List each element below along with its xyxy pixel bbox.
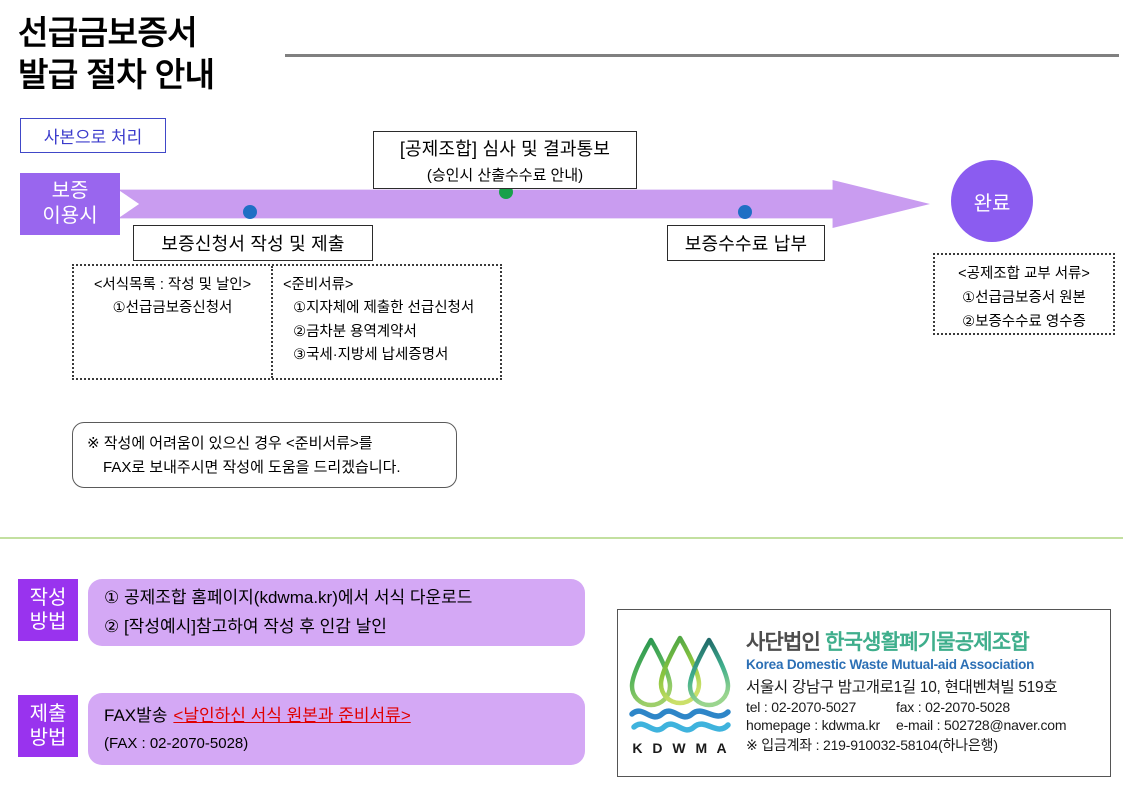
prepare-column-item-0: ①지자체에 제출한 선급신청서: [283, 297, 490, 320]
step-box-fee-payment-label: 보증수수료 납부: [685, 230, 808, 256]
step-box-review-line2: (승인시 산출수수료 안내): [427, 164, 583, 185]
contact-web-row: homepage : kdwma.kr e-mail : 502728@nave…: [746, 717, 1104, 733]
contact-email: e-mail : 502728@naver.com: [896, 717, 1066, 733]
step-box-review: [공제조합] 심사 및 결과통보 (승인시 산출수수료 안내): [373, 131, 637, 189]
organization-contact-card: K D W M A 사단법인 한국생활폐기물공제조합 Korea Domesti…: [617, 609, 1111, 777]
page-title: 선급금보증서 발급 절차 안내: [18, 12, 288, 96]
contact-account-row: ※ 입금계좌 : 219-910032-58104(하나은행): [746, 735, 1104, 755]
fax-send-emphasis: <날인하신 서식 원본과 준비서류>: [173, 706, 410, 725]
method-writing-item-1: ② [작성예시]참고하여 작성 후 인감 날인: [104, 613, 569, 641]
method-tag-writing-line1: 작성: [30, 586, 67, 610]
issued-documents-item-1: ②보증수수료 영수증: [935, 310, 1113, 334]
prepare-column: <준비서류> ①지자체에 제출한 선급신청서 ②금차분 용역계약서 ③국세·지방…: [273, 266, 500, 378]
copy-handling-note: 사본으로 처리: [20, 118, 166, 153]
milestone-dot-apply: [243, 205, 257, 219]
method-writing-item-0: ① 공제조합 홈페이지(kdwma.kr)에서 서식 다운로드: [104, 584, 569, 612]
fax-send-line: FAX발송<날인하신 서식 원본과 준비서류>: [104, 702, 569, 730]
stage-label-guarantee-use: 보증 이용시: [20, 173, 120, 235]
organization-name: 한국생활폐기물공제조합: [825, 631, 1029, 654]
step-box-application: 보증신청서 작성 및 제출: [133, 225, 373, 261]
contact-fax: fax : 02-2070-5028: [896, 699, 1010, 715]
contact-homepage: homepage : kdwma.kr: [746, 717, 896, 733]
forms-column-item-0: ①선급금보증신청서: [84, 297, 261, 320]
required-documents-box: <서식목록 : 작성 및 날인> ①선급금보증신청서 <준비서류> ①지자체에 …: [72, 264, 502, 380]
forms-column: <서식목록 : 작성 및 날인> ①선급금보증신청서: [74, 266, 273, 378]
fax-number-line: (FAX : 02-2070-5028): [104, 732, 569, 757]
section-divider: [0, 537, 1123, 539]
step-box-review-line1: [공제조합] 심사 및 결과통보: [400, 135, 610, 161]
slide-page: 선급금보증서 발급 절차 안내 사본으로 처리 보증 이용시 [공제조합] 심사…: [0, 0, 1123, 794]
organization-prefix: 사단법인: [746, 631, 820, 654]
kdwma-logo-text: K D W M A: [632, 740, 729, 756]
issued-documents-heading: <공제조합 교부 서류>: [935, 262, 1113, 286]
contact-phone-row: tel : 02-2070-5027 fax : 02-2070-5028: [746, 699, 1104, 715]
contact-tel: tel : 02-2070-5027: [746, 699, 896, 715]
forms-column-heading: <서식목록 : 작성 및 날인>: [84, 274, 261, 297]
contact-details: 사단법인 한국생활폐기물공제조합 Korea Domestic Waste Mu…: [744, 625, 1110, 760]
issued-documents-box: <공제조합 교부 서류> ①선급금보증서 원본 ②보증수수료 영수증: [933, 253, 1115, 335]
organization-name-kr: 사단법인 한국생활폐기물공제조합: [746, 631, 1104, 655]
method-body-submission: FAX발송<날인하신 서식 원본과 준비서류> (FAX : 02-2070-5…: [88, 693, 585, 765]
assistance-note: ※ 작성에 어려움이 있으신 경우 <준비서류>를 FAX로 보내주시면 작성에…: [72, 422, 457, 488]
water-droplets-icon: [629, 634, 733, 738]
assistance-note-line1: ※ 작성에 어려움이 있으신 경우 <준비서류>를: [87, 435, 373, 452]
organization-name-en: Korea Domestic Waste Mutual-aid Associat…: [746, 657, 1104, 672]
organization-address: 서울시 강남구 밤고개로1길 10, 현대벤쳐빌 519호: [746, 675, 1104, 697]
assistance-note-line2: FAX로 보내주시면 작성에 도움을 드리겠습니다.: [87, 456, 442, 480]
milestone-dot-fee: [738, 205, 752, 219]
method-tag-writing: 작성 방법: [18, 579, 78, 641]
prepare-column-heading: <준비서류>: [283, 274, 490, 297]
stage-label-line2: 이용시: [42, 204, 97, 229]
completion-badge: 완료: [951, 160, 1033, 242]
fax-send-label: FAX발송: [104, 706, 167, 725]
header-divider: [285, 54, 1119, 57]
step-box-application-label: 보증신청서 작성 및 제출: [161, 230, 344, 256]
step-box-fee-payment: 보증수수료 납부: [667, 225, 825, 261]
copy-handling-note-label: 사본으로 처리: [44, 123, 143, 148]
contact-bank-account: ※ 입금계좌 : 219-910032-58104(하나은행): [746, 735, 998, 755]
method-tag-submission-line2: 방법: [30, 726, 67, 750]
kdwma-logo: K D W M A: [618, 610, 744, 776]
prepare-column-item-1: ②금차분 용역계약서: [283, 321, 490, 344]
method-tag-writing-line2: 방법: [30, 610, 67, 634]
prepare-column-item-2: ③국세·지방세 납세증명서: [283, 344, 490, 367]
method-tag-submission: 제출 방법: [18, 695, 78, 757]
method-tag-submission-line1: 제출: [30, 702, 67, 726]
completion-badge-label: 완료: [974, 187, 1011, 216]
stage-label-line1: 보증: [52, 179, 89, 204]
issued-documents-item-0: ①선급금보증서 원본: [935, 286, 1113, 310]
method-body-writing: ① 공제조합 홈페이지(kdwma.kr)에서 서식 다운로드 ② [작성예시]…: [88, 579, 585, 646]
